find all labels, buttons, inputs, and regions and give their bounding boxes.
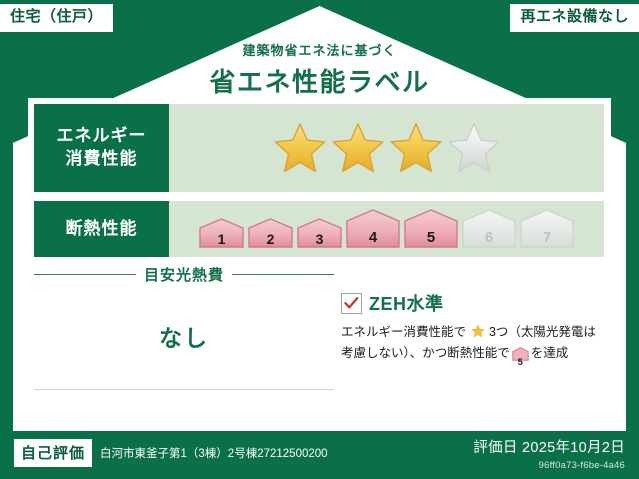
insulation-chip-number: 6 [461, 230, 517, 245]
insulation-chip-inline-number: 5 [512, 358, 529, 367]
insulation-chip-3: 3 [296, 218, 343, 249]
star-icon-filled [331, 121, 385, 175]
evaluation-date: 評価日 2025年10月2日 [473, 436, 625, 457]
insulation-chip-number: 1 [198, 232, 245, 246]
row-energy-performance: エネルギー 消費性能 [34, 104, 604, 192]
insulation-grade-scale: 1234567 [198, 209, 575, 249]
divider-right [232, 274, 334, 275]
energy-label-root: 住宅（住戸） 再エネ設備なし 建築物省エネ法に基づく 省エネ性能ラベル エネルギ… [0, 0, 639, 479]
zeh-title: ZEH水準 [369, 290, 444, 316]
energy-label-line1: エネルギー [57, 125, 147, 148]
row-insulation-performance: 断熱性能 1234567 [34, 201, 604, 257]
zeh-desc-part3: を達成 [531, 346, 569, 360]
energy-label-line2: 消費性能 [66, 148, 138, 171]
insulation-chip-number: 2 [247, 232, 294, 246]
zeh-desc-part1: エネルギー消費性能で [341, 325, 466, 339]
energy-performance-value [169, 104, 604, 192]
insulation-chip-5: 5 [403, 209, 459, 249]
star-icon-inline [467, 327, 488, 341]
divider-left [34, 274, 136, 275]
utility-cost-header: 目安光熱費 [34, 264, 334, 285]
footer-left-group: 自己評価 白河市東釜子第1（3棟）2号棟27212500200 [14, 439, 328, 467]
footer-right-group: 評価日 2025年10月2日 96ff0a73-f6be-4a46 [473, 436, 625, 471]
insulation-label-text: 断熱性能 [66, 218, 138, 241]
insulation-performance-value: 1234567 [169, 201, 604, 257]
badge-renewable-equipment: 再エネ設備なし [510, 4, 639, 32]
insulation-chip-number: 7 [519, 230, 575, 245]
zeh-header: ZEH水準 [341, 290, 607, 316]
star-rating [273, 121, 501, 175]
evaluation-id: 96ff0a73-f6be-4a46 [473, 460, 625, 471]
utility-cost-block: 目安光熱費 なし [34, 264, 334, 390]
insulation-chip-2: 2 [247, 218, 294, 249]
label-footer: 自己評価 白河市東釜子第1（3棟）2号棟27212500200 評価日 2025… [0, 431, 639, 479]
star-icon-empty [447, 121, 501, 175]
zeh-description: エネルギー消費性能で 3つ（太陽光発電は考慮しない）、かつ断熱性能で 5 を達成 [341, 323, 607, 368]
label-title-block: 建築物省エネ法に基づく 省エネ性能ラベル [0, 40, 639, 99]
badge-building-type: 住宅（住戸） [0, 4, 113, 32]
title-subtitle: 建築物省エネ法に基づく [0, 40, 639, 59]
insulation-chip-inline: 5 [512, 347, 529, 367]
insulation-chip-number: 3 [296, 232, 343, 246]
self-evaluation-badge: 自己評価 [14, 439, 92, 467]
energy-performance-label: エネルギー 消費性能 [34, 104, 169, 192]
zeh-checkbox[interactable] [341, 293, 362, 314]
star-icon-filled [273, 121, 327, 175]
insulation-performance-label: 断熱性能 [34, 201, 169, 257]
insulation-chip-number: 5 [403, 230, 459, 245]
insulation-chip-7: 7 [519, 209, 575, 249]
property-address: 白河市東釜子第1（3棟）2号棟27212500200 [100, 445, 328, 461]
page-title: 省エネ性能ラベル [0, 62, 639, 99]
check-icon [344, 296, 359, 311]
utility-cost-value: なし [34, 319, 334, 353]
utility-cost-bottom-divider [34, 389, 334, 390]
insulation-chip-1: 1 [198, 218, 245, 249]
star-icon-filled [389, 121, 443, 175]
utility-cost-title: 目安光熱費 [144, 264, 224, 285]
insulation-chip-number: 4 [345, 230, 401, 245]
zeh-standard-block: ZEH水準 エネルギー消費性能で 3つ（太陽光発電は考慮しない）、かつ断熱性能で… [341, 290, 607, 368]
insulation-chip-4: 4 [345, 209, 401, 249]
insulation-chip-6: 6 [461, 209, 517, 249]
